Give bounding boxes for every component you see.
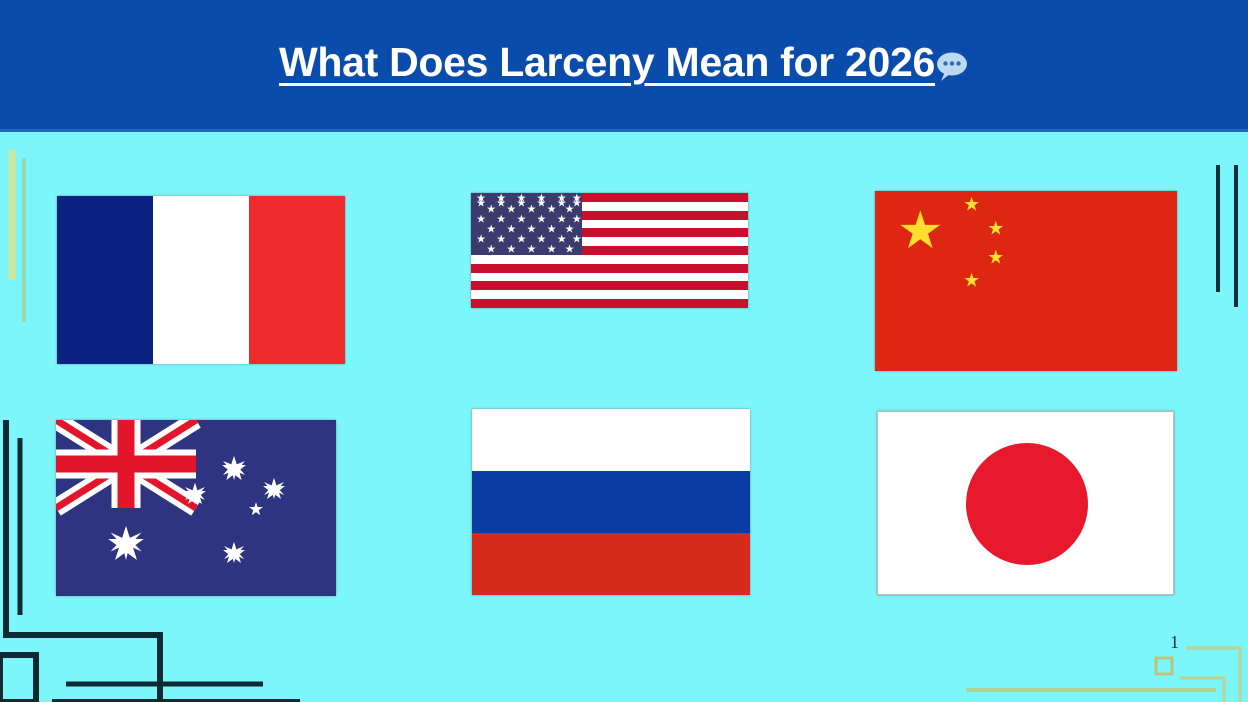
page-title-text: What Does Larceny Mean for 2026: [279, 39, 935, 85]
russia-flag: [472, 409, 750, 595]
page-title: What Does Larceny Mean for 2026: [279, 42, 969, 89]
flag-cell-russia: [472, 409, 750, 595]
china-small-star: ★: [963, 196, 980, 215]
japan-sun-disc: [966, 443, 1088, 565]
france-flag: [57, 196, 345, 364]
russia-band-blue: [472, 471, 750, 533]
france-band-red: [249, 196, 345, 364]
united-states-flag: ★ ★ ★ ★ ★ ★ ★ ★ ★ ★ ★ ★ ★ ★ ★ ★ ★: [471, 193, 748, 308]
flags-grid: ★ ★ ★ ★ ★ ★ ★ ★ ★ ★ ★ ★ ★ ★ ★ ★ ★: [0, 131, 1248, 702]
speech-balloon-icon: [933, 48, 969, 89]
slide-canvas: What Does Larceny Mean for 2026 ★: [0, 0, 1248, 702]
us-stripe: [471, 281, 748, 290]
france-band-blue: [57, 196, 153, 364]
france-band-white: [153, 196, 249, 364]
china-flag: ★ ★ ★ ★ ★: [875, 191, 1177, 371]
flag-cell-france: [57, 196, 345, 364]
china-small-star: ★: [963, 272, 980, 291]
flag-cell-australia: [56, 420, 336, 596]
russia-band-red: [472, 533, 750, 595]
us-stripe: [471, 264, 748, 273]
japan-flag: [877, 411, 1174, 595]
title-container: What Does Larceny Mean for 2026: [0, 0, 1248, 131]
flag-cell-japan: [877, 411, 1174, 595]
china-small-star: ★: [987, 248, 1004, 267]
australia-flag: [56, 420, 336, 596]
flag-cell-united-states: ★ ★ ★ ★ ★ ★ ★ ★ ★ ★ ★ ★ ★ ★ ★ ★ ★: [471, 193, 748, 308]
page-number: 1: [1170, 632, 1179, 653]
russia-band-white: [472, 409, 750, 471]
us-stripe: [471, 299, 748, 308]
us-canton: ★ ★ ★ ★ ★ ★ ★ ★ ★ ★ ★ ★ ★ ★ ★ ★ ★: [471, 193, 582, 255]
flag-cell-china: ★ ★ ★ ★ ★: [875, 191, 1177, 371]
china-large-star: ★: [897, 205, 944, 257]
china-small-star: ★: [987, 219, 1004, 238]
